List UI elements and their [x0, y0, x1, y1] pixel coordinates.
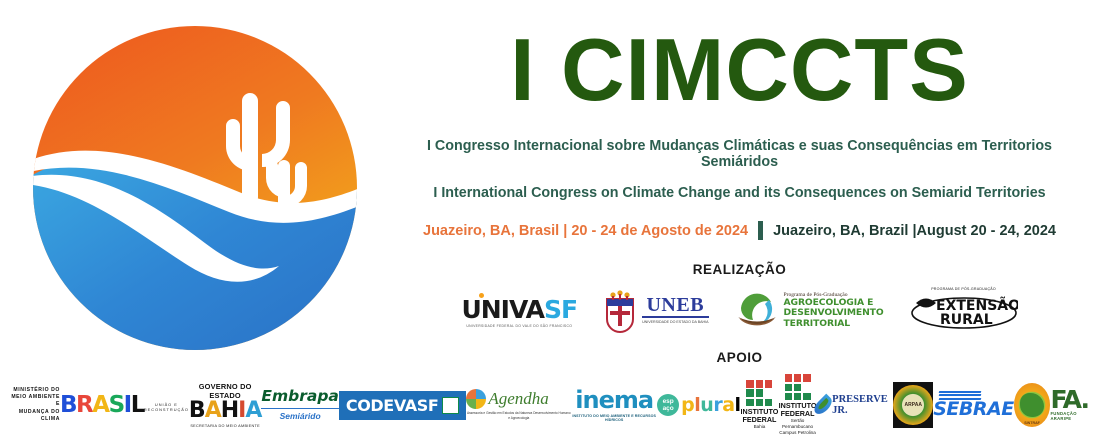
- date-portuguese: Juazeiro, BA, Brasil | 20 - 24 de Agosto…: [423, 223, 748, 239]
- embrapa-rule: [261, 408, 339, 410]
- agendha-globe-icon: [466, 389, 486, 409]
- mma-line1: MINISTÉRIO DO: [8, 387, 60, 394]
- logo-instituto-federal-bahia: INSTITUTO FEDERAL Bahia: [741, 380, 779, 430]
- realizacao-logo-row: UNIVASF UNIVERSIDADE FEDERAL DO VALE DO …: [390, 287, 1089, 334]
- logo-governo-bahia: GOVERNO DO ESTADO BAHIA SECRETARIA DO ME…: [189, 382, 261, 428]
- mma-line3: MUDANÇA DO CLIMA: [8, 409, 60, 424]
- logo-sintraf: SINTRAF: [1014, 383, 1051, 427]
- realizacao-label: REALIZAÇÃO: [390, 262, 1089, 277]
- agendha-tagline: Assessoria e Gestão em Estudos da Nature…: [466, 411, 571, 421]
- mma-line2: MEIO AMBIENTE E: [8, 394, 60, 409]
- sebrae-bars-icon: [939, 391, 981, 402]
- inema-tagline: INSTITUTO DO MEIO AMBIENTE E RECURSOS HÍ…: [571, 414, 657, 422]
- logo-agendha: Agendha Assessoria e Gestão em Estudos d…: [466, 389, 571, 421]
- codevasf-book-icon: [442, 397, 459, 414]
- preserve-word: PRESERVE JR.: [832, 394, 893, 416]
- page-title: I CIMCCTS: [390, 26, 1089, 114]
- bahia-word: BAHIA: [189, 400, 261, 422]
- logo-espaco-plural: esp aço plural: [657, 394, 740, 416]
- if-sertao-s1: Sertão Pernambucano: [778, 418, 816, 429]
- subtitle-english: I International Congress on Climate Chan…: [390, 185, 1089, 201]
- uneb-tagline: UNIVERSIDADE DO ESTADO DA BAHIA: [642, 320, 708, 325]
- logo-embrapa: Embrapa Semiárido: [261, 389, 339, 421]
- logo-brasil: BRASIL UNIÃO E RECONSTRUÇÃO: [60, 394, 189, 417]
- if-sertao-n2: FEDERAL: [778, 410, 816, 418]
- brasil-word: BRASIL: [60, 394, 144, 417]
- logo-ministerio-meio-ambiente: MINISTÉRIO DO MEIO AMBIENTE E MUDANÇA DO…: [8, 387, 60, 424]
- brasil-tagline: UNIÃO E RECONSTRUÇÃO: [144, 402, 189, 412]
- uneb-word: UNEB: [642, 295, 708, 318]
- logo-uneb: UNEB UNIVERSIDADE DO ESTADO DA BAHIA: [603, 289, 708, 333]
- espaco-plural-circle-icon: esp aço: [657, 394, 679, 416]
- logo-inema: inema INSTITUTO DO MEIO AMBIENTE E RECUR…: [571, 388, 657, 422]
- if-bahia-n2: FEDERAL: [741, 416, 779, 424]
- espaco-line1: esp: [663, 398, 674, 405]
- bahia-tagline: SECRETARIA DO MEIO AMBIENTE: [189, 424, 261, 428]
- arpaa-seal-icon: ARPAA: [893, 385, 933, 425]
- univasf-word-accent: SF: [544, 295, 577, 324]
- logo-zone: [0, 0, 390, 435]
- event-banner: I CIMCCTS I Congresso Internacional sobr…: [0, 0, 1099, 435]
- agendha-word: Agendha: [488, 389, 548, 409]
- sintraf-word: SINTRAF: [1024, 421, 1040, 425]
- content-zone: I CIMCCTS I Congresso Internacional sobr…: [390, 0, 1099, 435]
- if-sertao-grid-icon: [785, 374, 811, 400]
- arpaa-word: ARPAA: [905, 402, 922, 408]
- cimccts-circle-logo: [21, 14, 369, 362]
- uneb-crest-icon: [603, 289, 637, 333]
- logo-sebrae: SEBRAE: [933, 391, 1013, 420]
- extensao-line2: RURAL: [940, 312, 993, 328]
- agroecologia-line3: TERRITORIAL: [784, 319, 884, 329]
- codevasf-word: CODEVASF: [346, 396, 439, 415]
- apoio-label: APOIO: [390, 350, 1089, 365]
- univasf-tagline: UNIVERSIDADE FEDERAL DO VALE DO SÃO FRAN…: [461, 324, 577, 328]
- subtitle-portuguese: I Congresso Internacional sobre Mudanças…: [390, 138, 1089, 170]
- apoio-logo-row: MINISTÉRIO DO MEIO AMBIENTE E MUDANÇA DO…: [0, 375, 1099, 435]
- logo-univasf: UNIVASF UNIVERSIDADE FEDERAL DO VALE DO …: [461, 293, 577, 328]
- if-bahia-s1: Bahia: [741, 424, 779, 430]
- logo-preserve-jr: PRESERVE JR.: [817, 394, 894, 416]
- logo-instituto-federal-sertao: INSTITUTO FEDERAL Sertão Pernambucano Ca…: [778, 374, 816, 435]
- logo-extensao-rural: PROGRAMA DE PÓS-GRADUAÇÃO EXTENSÃO RURAL: [910, 287, 1018, 334]
- embrapa-tagline: Semiárido: [261, 411, 339, 421]
- espaco-line2: aço: [663, 405, 674, 412]
- date-english: Juazeiro, BA, Brazil |August 20 - 24, 20…: [773, 223, 1056, 239]
- dateline: Juazeiro, BA, Brasil | 20 - 24 de Agosto…: [390, 221, 1089, 240]
- logo-arpaa: ARPAA: [893, 382, 933, 428]
- inema-word: inema: [571, 388, 657, 412]
- logo-fundacao-araripe: FA. FUNDAÇÃO ARARIPE: [1050, 389, 1091, 420]
- logo-codevasf: CODEVASF: [339, 391, 467, 420]
- araripe-mark: FA.: [1050, 389, 1091, 410]
- agroecologia-icon: [735, 290, 779, 332]
- if-bahia-grid-icon: [746, 380, 772, 406]
- date-separator: [758, 221, 763, 240]
- embrapa-word: Embrapa: [261, 387, 339, 405]
- univasf-word: UNIVA: [461, 295, 544, 324]
- sintraf-map-icon: [1020, 393, 1044, 417]
- logo-agroecologia: Programa de Pós-Graduação AGROECOLOGIA E…: [735, 290, 884, 332]
- plural-word: plural: [681, 394, 740, 416]
- extensao-rural-wordmark: EXTENSÃO RURAL: [910, 291, 1018, 329]
